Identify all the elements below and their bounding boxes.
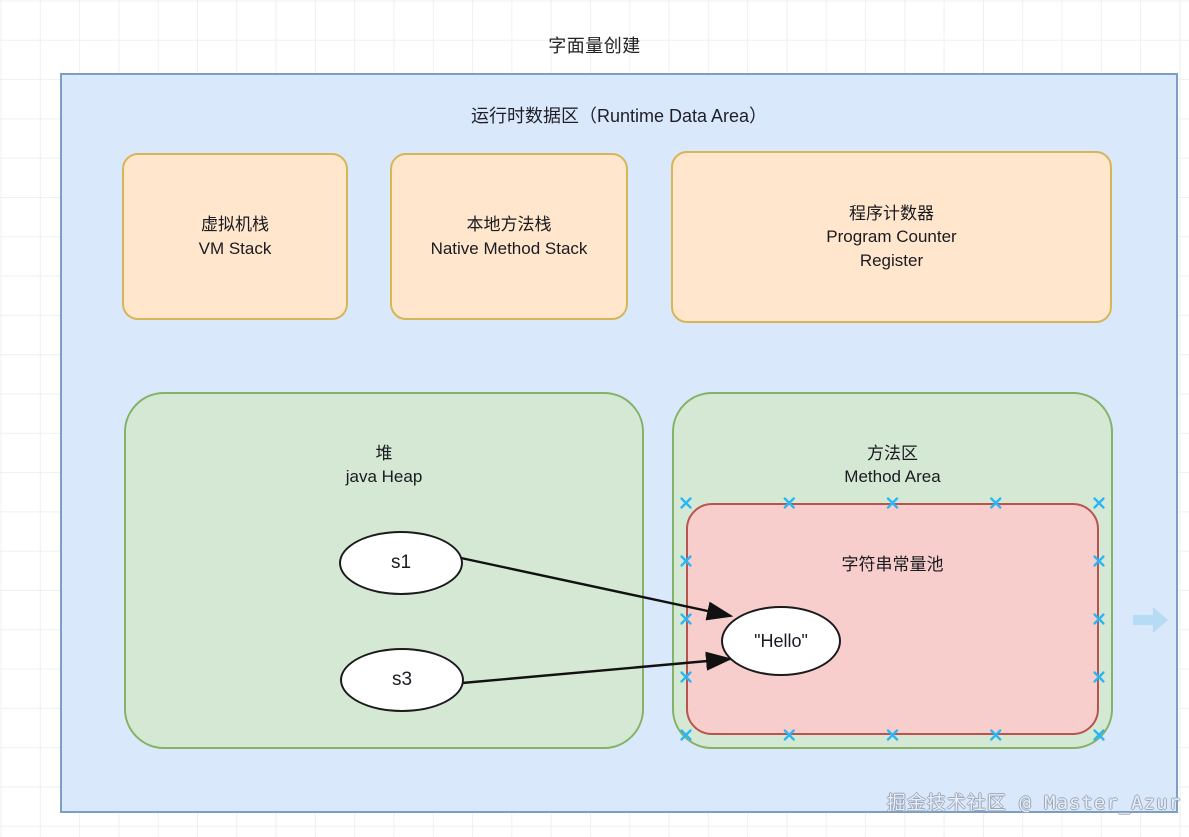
node-vm-stack-line2: VM Stack <box>199 237 272 260</box>
node-string-constant-pool-line1: 字符串常量池 <box>842 553 944 576</box>
right-arrow-icon[interactable] <box>1131 604 1171 636</box>
watermark: 掘金技术社区 @ Master_Azur <box>887 788 1181 815</box>
node-program-counter-register[interactable]: 程序计数器 Program Counter Register <box>671 151 1112 323</box>
diagram-canvas[interactable]: 字面量创建 运行时数据区（Runtime Data Area） 虚拟机栈 VM … <box>0 0 1189 837</box>
node-method-area-line2: Method Area <box>844 465 940 488</box>
node-native-method-stack[interactable]: 本地方法栈 Native Method Stack <box>390 153 628 320</box>
node-native-method-stack-line1: 本地方法栈 <box>431 213 588 236</box>
node-vm-stack-text: 虚拟机栈 VM Stack <box>199 213 272 260</box>
node-native-method-stack-line2: Native Method Stack <box>431 237 588 260</box>
node-s1-label: s1 <box>391 552 411 574</box>
node-program-counter-register-line3: Register <box>826 249 956 272</box>
node-program-counter-register-line1: 程序计数器 <box>826 202 956 225</box>
runtime-data-area-label: 运行时数据区（Runtime Data Area） <box>62 102 1176 128</box>
node-java-heap-line2: java Heap <box>346 465 423 488</box>
node-s3[interactable]: s3 <box>340 648 464 712</box>
node-java-heap-line1: 堆 <box>346 442 423 465</box>
node-string-constant-pool-text: 字符串常量池 <box>842 553 944 576</box>
node-method-area-line1: 方法区 <box>844 442 940 465</box>
node-java-heap-text: 堆 java Heap <box>346 442 423 489</box>
node-method-area-text: 方法区 Method Area <box>844 442 940 489</box>
node-vm-stack[interactable]: 虚拟机栈 VM Stack <box>122 153 348 320</box>
node-program-counter-register-text: 程序计数器 Program Counter Register <box>826 202 956 272</box>
node-s1[interactable]: s1 <box>339 531 463 595</box>
node-hello-literal-label: "Hello" <box>754 631 808 652</box>
node-vm-stack-line1: 虚拟机栈 <box>199 213 272 236</box>
node-s3-label: s3 <box>392 669 412 691</box>
node-hello-literal[interactable]: "Hello" <box>721 606 841 676</box>
node-native-method-stack-text: 本地方法栈 Native Method Stack <box>431 213 588 260</box>
page-title: 字面量创建 <box>0 32 1189 58</box>
node-program-counter-register-line2: Program Counter <box>826 225 956 248</box>
